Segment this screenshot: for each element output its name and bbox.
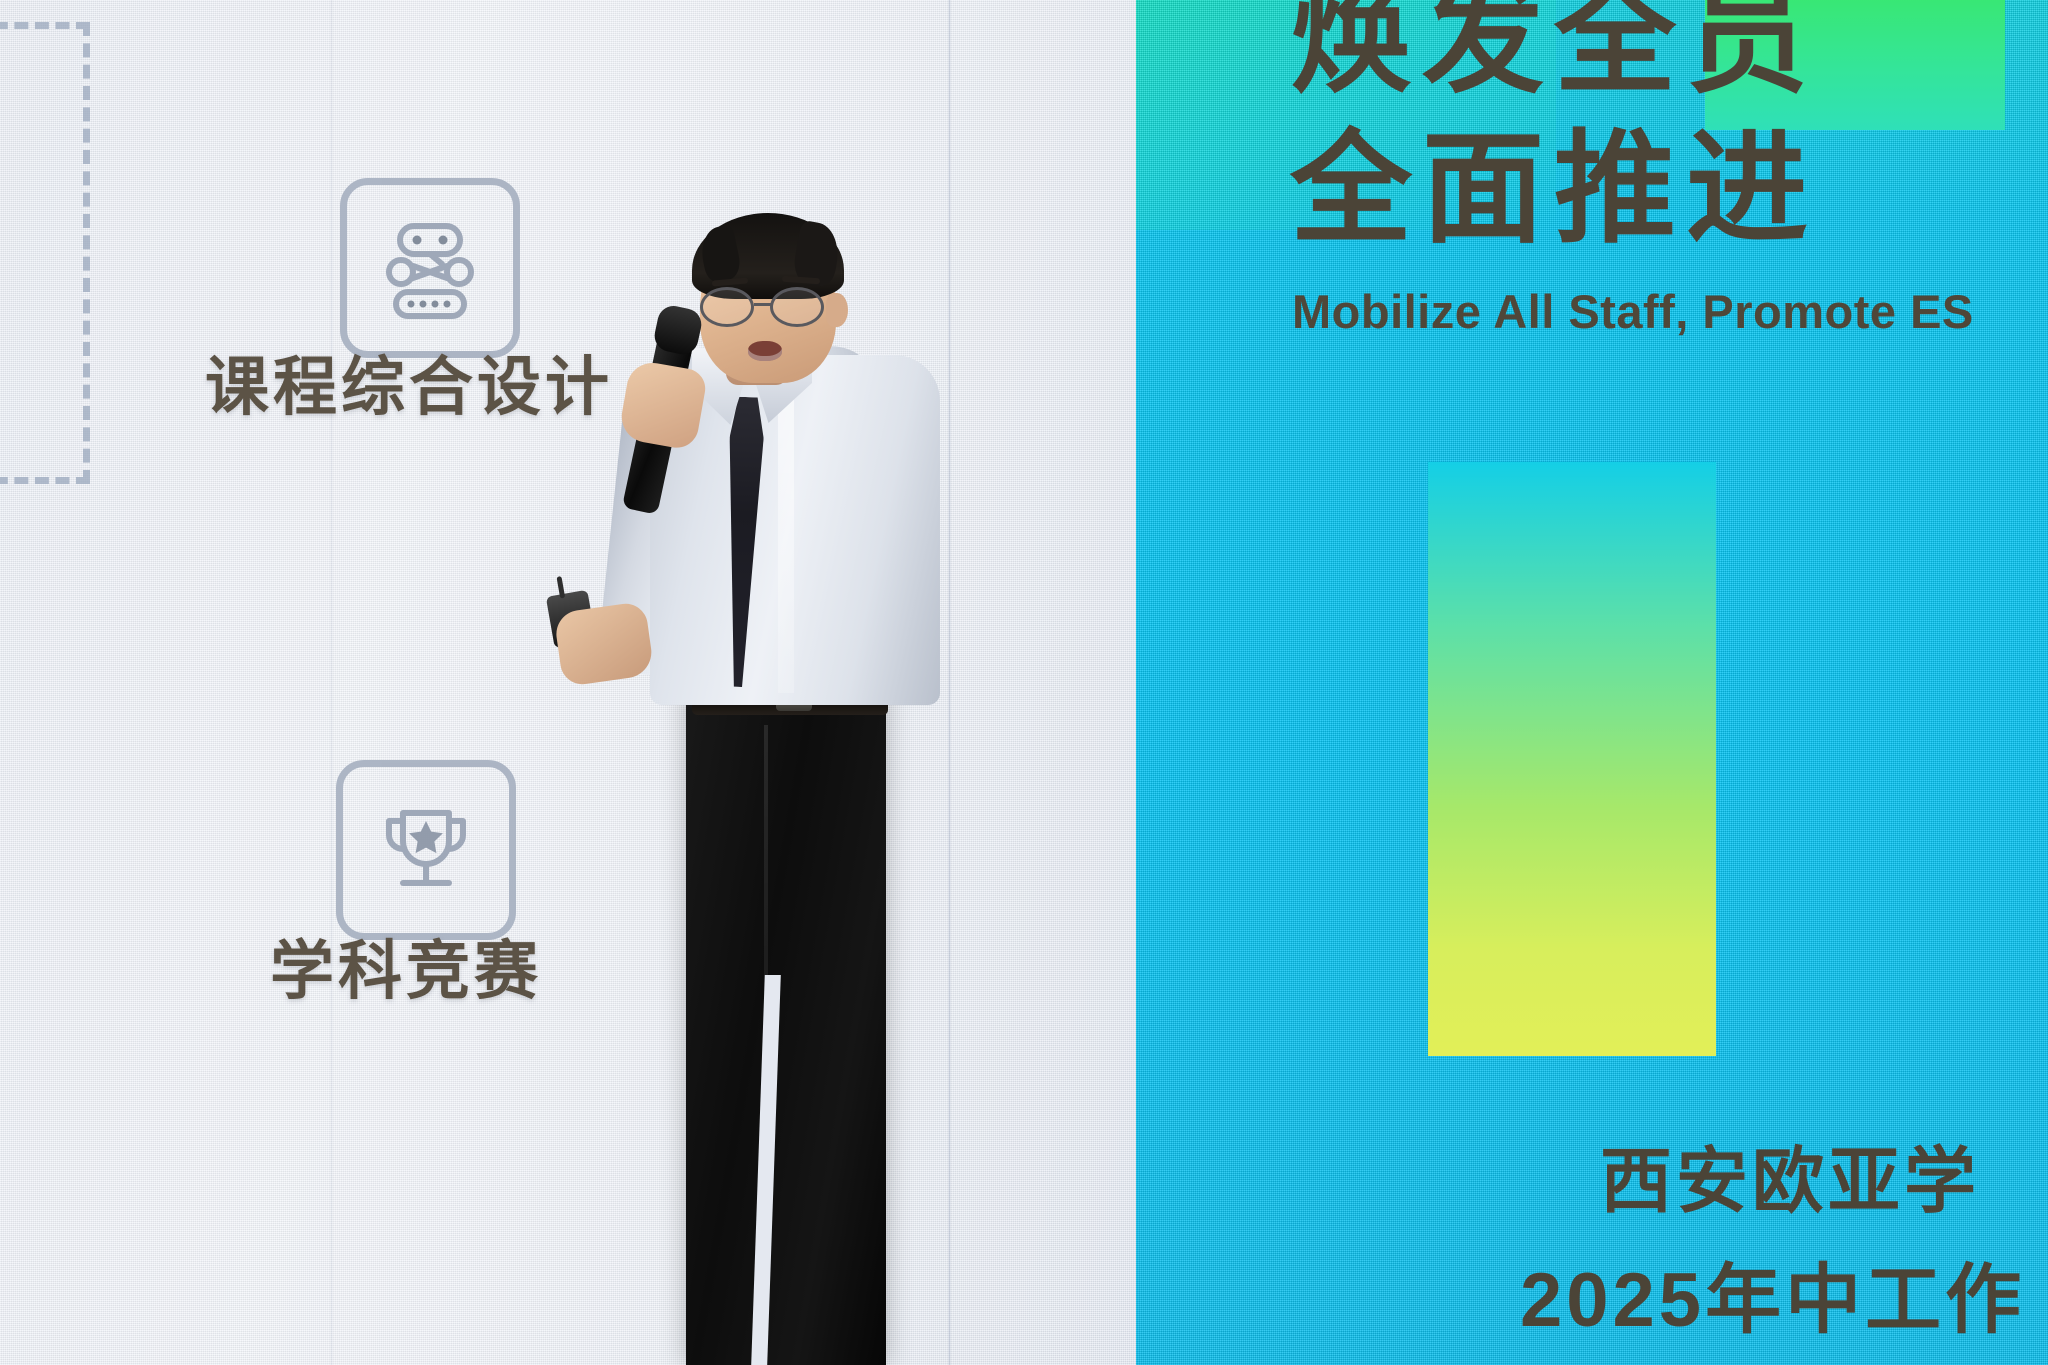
- slide-label-competition: 学科竞赛: [270, 920, 542, 1012]
- presenter-hand-holding-microphone: [618, 359, 709, 451]
- presenter-mouth: [748, 341, 782, 361]
- presenter: [540, 215, 960, 1365]
- presenter-hand-holding-clicker: [553, 601, 654, 687]
- headline-subtitle-english: Mobilize All Staff, Promote ES: [1292, 284, 1974, 339]
- glasses-lens-left: [700, 287, 754, 327]
- footer-line-event: 2025年中工作: [1520, 1238, 2025, 1348]
- glasses-lens-right: [770, 287, 824, 327]
- footer-line-organization: 西安欧亚学: [1600, 1122, 1980, 1227]
- presenter-trousers: [686, 685, 886, 1365]
- dashed-decoration-frame: [0, 22, 90, 484]
- headline-line-1: 焕发全员: [1290, 0, 1818, 100]
- led-panel-seam-secondary: [330, 0, 333, 1365]
- network-nodes-icon: [340, 178, 520, 358]
- glasses-icon: [696, 287, 844, 327]
- trophy-icon: [336, 760, 516, 940]
- screenshot-stage: 课程综合设计 学科竞赛 焕发全员 全面推进 Mobilize All Staff…: [0, 0, 2048, 1365]
- headline-line-2: 全面推进: [1290, 128, 1818, 250]
- gradient-column-graphic: [1428, 462, 1716, 1056]
